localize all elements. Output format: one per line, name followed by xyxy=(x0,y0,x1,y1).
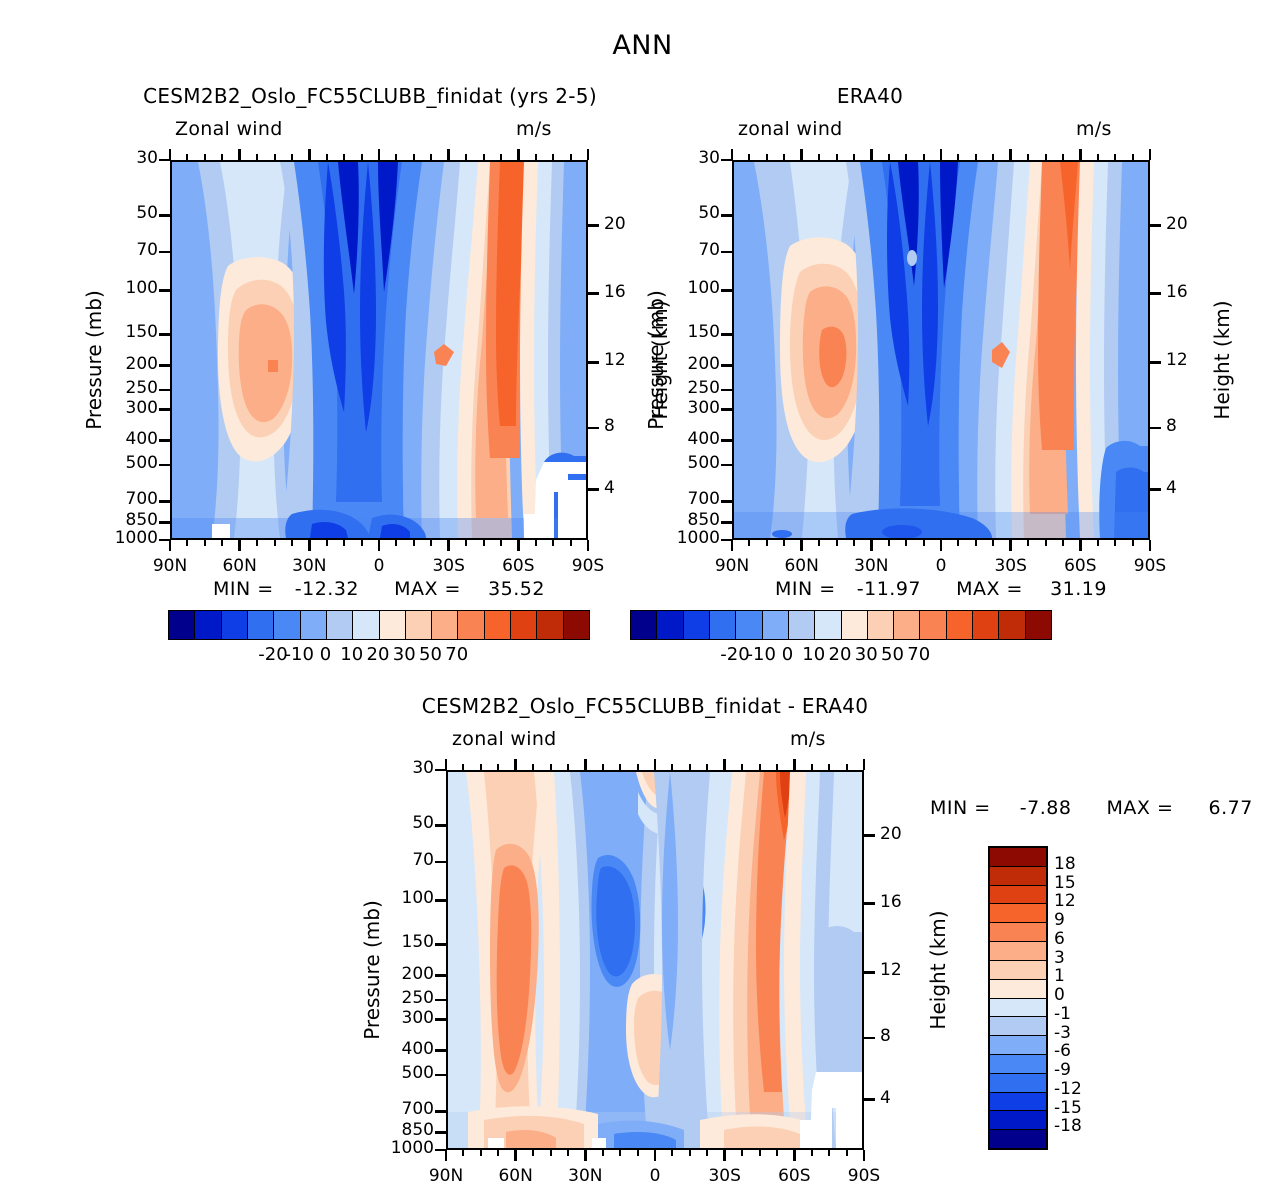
colorbar-cell xyxy=(990,999,1046,1018)
x-tick-major xyxy=(308,149,311,160)
x-tick-label: 60S xyxy=(478,556,558,576)
x-tick-minor xyxy=(1062,540,1064,546)
contour-field-obs xyxy=(734,162,1148,538)
colorbar-diff xyxy=(988,846,1048,1150)
height-tick xyxy=(588,427,599,430)
x-tick-minor xyxy=(957,154,959,160)
height-tick-label: 8 xyxy=(1166,416,1206,436)
pressure-tick xyxy=(159,289,170,292)
colorbar-cell xyxy=(406,611,432,639)
x-tick-minor xyxy=(532,1150,534,1156)
x-tick-minor xyxy=(1097,540,1099,546)
x-tick-minor xyxy=(326,540,328,546)
x-tick-major xyxy=(514,1150,517,1161)
min-label-obs: MIN = xyxy=(775,578,836,600)
height-tick xyxy=(1150,361,1161,364)
x-tick-minor xyxy=(923,540,925,546)
x-tick-major xyxy=(584,759,587,770)
x-tick-minor xyxy=(462,1150,464,1156)
max-label-diff: MAX = xyxy=(1107,797,1174,819)
panel-units-diff: m/s xyxy=(790,728,826,750)
pressure-tick-label: 200 xyxy=(636,354,720,374)
x-tick-minor xyxy=(570,154,572,160)
min-label-diff: MIN = xyxy=(930,797,991,819)
panel-field-label-model: Zonal wind xyxy=(175,118,283,140)
pressure-tick xyxy=(159,214,170,217)
min-value-model: -12.32 xyxy=(295,578,359,600)
x-tick-minor xyxy=(1114,154,1116,160)
colorbar-cell xyxy=(990,942,1046,961)
pressure-tick-label: 500 xyxy=(74,453,158,473)
pressure-tick xyxy=(435,974,446,977)
x-tick-minor xyxy=(811,1150,813,1156)
x-tick-minor xyxy=(465,154,467,160)
x-tick-label: 60S xyxy=(1040,556,1120,576)
x-tick-label: 60N xyxy=(476,1166,556,1186)
colorbar-cell xyxy=(327,611,353,639)
max-label-obs: MAX = xyxy=(956,578,1023,600)
x-tick-minor xyxy=(552,540,554,546)
colorbar-cell xyxy=(248,611,274,639)
pressure-tick-label: 300 xyxy=(74,398,158,418)
pressure-tick-label: 1000 xyxy=(636,528,720,548)
x-tick-minor xyxy=(759,1150,761,1156)
contour-field-diff xyxy=(448,772,862,1148)
height-tick-label: 8 xyxy=(880,1026,920,1046)
colorbar-cell xyxy=(990,1074,1046,1093)
pressure-tick xyxy=(435,899,446,902)
x-tick-major xyxy=(587,149,590,160)
x-tick-major xyxy=(587,540,590,551)
x-tick-minor xyxy=(1027,540,1029,546)
colorbar-cell xyxy=(631,611,657,639)
x-tick-major xyxy=(793,759,796,770)
x-tick-minor xyxy=(975,154,977,160)
height-tick-label: 4 xyxy=(880,1088,920,1108)
colorbar-cell xyxy=(736,611,762,639)
pressure-tick xyxy=(435,1110,446,1113)
pressure-tick xyxy=(721,464,732,467)
height-tick xyxy=(1150,427,1161,430)
height-tick-label: 20 xyxy=(880,824,920,844)
x-tick-label: 90S xyxy=(548,556,628,576)
x-tick-major xyxy=(238,540,241,551)
x-tick-minor xyxy=(480,1150,482,1156)
colorbar-tick-label: -9 xyxy=(1054,1060,1114,1080)
plot-area-diff xyxy=(446,770,864,1150)
x-tick-major xyxy=(238,149,241,160)
pressure-tick xyxy=(435,999,446,1002)
colorbar-cell xyxy=(990,1130,1046,1148)
pressure-tick xyxy=(159,464,170,467)
yaxis-title-diff: Pressure (mb) xyxy=(360,870,384,1070)
colorbar-cell xyxy=(511,611,537,639)
x-tick-major xyxy=(1009,540,1012,551)
x-tick-major xyxy=(517,540,520,551)
pressure-tick xyxy=(435,1018,446,1021)
colorbar-cell xyxy=(789,611,815,639)
x-tick-major xyxy=(1009,149,1012,160)
x-tick-major xyxy=(447,540,450,551)
colorbar-tick-label: 18 xyxy=(1054,854,1114,874)
x-tick-minor xyxy=(706,1150,708,1156)
x-tick-label: 30S xyxy=(685,1166,765,1186)
x-tick-major xyxy=(723,759,726,770)
x-tick-minor xyxy=(1062,154,1064,160)
x-tick-minor xyxy=(992,154,994,160)
x-tick-minor xyxy=(413,154,415,160)
colorbar-cell xyxy=(222,611,248,639)
x-tick-minor xyxy=(905,540,907,546)
x-tick-minor xyxy=(888,540,890,546)
pressure-tick xyxy=(721,364,732,367)
colorbar-cell xyxy=(999,611,1025,639)
pressure-tick-label: 50 xyxy=(636,203,720,223)
x-tick-minor xyxy=(567,1150,569,1156)
pressure-tick-label: 700 xyxy=(74,489,158,509)
x-tick-major xyxy=(584,1150,587,1161)
colorbar-cell xyxy=(920,611,946,639)
x-tick-minor xyxy=(361,540,363,546)
pressure-tick xyxy=(159,364,170,367)
pressure-tick-label: 30 xyxy=(350,758,434,778)
x-tick-minor xyxy=(535,154,537,160)
x-tick-major xyxy=(517,149,520,160)
panel-title-obs: ERA40 xyxy=(640,84,1100,108)
pressure-tick-label: 700 xyxy=(350,1099,434,1119)
x-tick-minor xyxy=(535,540,537,546)
x-tick-minor xyxy=(1132,154,1134,160)
pressure-tick-label: 100 xyxy=(74,278,158,298)
x-tick-minor xyxy=(204,154,206,160)
x-tick-label: 60S xyxy=(754,1166,834,1186)
x-tick-minor xyxy=(853,540,855,546)
height-tick xyxy=(864,1098,875,1101)
x-tick-minor xyxy=(1114,540,1116,546)
plot-area-model xyxy=(170,160,588,540)
x-tick-minor xyxy=(221,154,223,160)
x-tick-minor xyxy=(818,154,820,160)
x-tick-minor xyxy=(430,540,432,546)
x-tick-minor xyxy=(343,154,345,160)
height-tick xyxy=(1150,488,1161,491)
x-tick-major xyxy=(378,540,381,551)
colorbar-cell xyxy=(990,961,1046,980)
pressure-tick xyxy=(435,861,446,864)
x-tick-major xyxy=(940,149,943,160)
pressure-tick xyxy=(159,251,170,254)
x-tick-minor xyxy=(221,540,223,546)
pressure-tick-label: 400 xyxy=(74,429,158,449)
height-tick xyxy=(864,1037,875,1040)
x-tick-major xyxy=(378,149,381,160)
minmax-model: MIN = -12.32 MAX = 35.52 xyxy=(170,578,588,600)
height-tick xyxy=(864,834,875,837)
pressure-tick xyxy=(435,1149,446,1152)
height-tick xyxy=(588,292,599,295)
pressure-tick xyxy=(435,824,446,827)
x-tick-label: 30N xyxy=(545,1166,625,1186)
contour-field-model xyxy=(172,162,586,538)
pressure-tick xyxy=(721,289,732,292)
x-tick-minor xyxy=(497,1150,499,1156)
pressure-tick xyxy=(721,439,732,442)
pressure-tick xyxy=(159,500,170,503)
x-tick-minor xyxy=(975,540,977,546)
colorbar-cell xyxy=(868,611,894,639)
x-tick-minor xyxy=(186,540,188,546)
colorbar-tick-label: -15 xyxy=(1054,1098,1114,1118)
pressure-tick-label: 1000 xyxy=(350,1138,434,1158)
pressure-tick-label: 150 xyxy=(74,322,158,342)
x-tick-minor xyxy=(291,154,293,160)
colorbar-cell xyxy=(274,611,300,639)
x-tick-minor xyxy=(274,540,276,546)
colorbar-tick-label: -18 xyxy=(1054,1116,1114,1136)
pressure-tick xyxy=(721,389,732,392)
x-tick-major xyxy=(654,1150,657,1161)
colorbar-cell xyxy=(990,1036,1046,1055)
x-tick-minor xyxy=(905,154,907,160)
pressure-tick xyxy=(159,389,170,392)
x-tick-label: 30N xyxy=(831,556,911,576)
x-tick-label: 60N xyxy=(200,556,280,576)
x-tick-minor xyxy=(853,154,855,160)
x-tick-minor xyxy=(274,154,276,160)
x-tick-minor xyxy=(1045,154,1047,160)
x-tick-minor xyxy=(361,154,363,160)
colorbar-tick-label: -1 xyxy=(1054,1004,1114,1024)
x-tick-major xyxy=(1149,149,1152,160)
pressure-tick xyxy=(159,159,170,162)
y2axis-title-obs: Height (km) xyxy=(1210,260,1234,460)
x-tick-minor xyxy=(888,154,890,160)
colorbar-model xyxy=(168,610,590,640)
x-tick-minor xyxy=(957,540,959,546)
pressure-tick xyxy=(721,333,732,336)
pressure-tick xyxy=(721,521,732,524)
x-tick-major xyxy=(308,540,311,551)
x-tick-label: 90N xyxy=(130,556,210,576)
colorbar-cell xyxy=(1026,611,1051,639)
x-tick-major xyxy=(445,1150,448,1161)
x-tick-label: 0 xyxy=(901,556,981,576)
panel-units-model: m/s xyxy=(516,118,552,140)
colorbar-cell xyxy=(684,611,710,639)
x-tick-minor xyxy=(256,540,258,546)
x-tick-minor xyxy=(1027,154,1029,160)
height-tick-label: 12 xyxy=(1166,350,1206,370)
max-value-model: 35.52 xyxy=(488,578,545,600)
pressure-tick-label: 70 xyxy=(74,240,158,260)
x-tick-minor xyxy=(992,540,994,546)
height-tick xyxy=(588,224,599,227)
min-value-diff: -7.88 xyxy=(1020,797,1072,819)
x-tick-minor xyxy=(552,154,554,160)
x-tick-minor xyxy=(1045,540,1047,546)
pressure-tick-label: 400 xyxy=(636,429,720,449)
x-tick-minor xyxy=(483,540,485,546)
colorbar-tick-label: 1 xyxy=(1054,966,1114,986)
colorbar-cell xyxy=(485,611,511,639)
pressure-tick-label: 50 xyxy=(74,203,158,223)
minmax-diff: MIN = -7.88 MAX = 6.77 xyxy=(930,797,1253,819)
minmax-obs: MIN = -11.97 MAX = 31.19 xyxy=(732,578,1150,600)
x-tick-major xyxy=(1079,149,1082,160)
x-tick-label: 60N xyxy=(762,556,842,576)
x-tick-label: 0 xyxy=(339,556,419,576)
x-tick-minor xyxy=(836,540,838,546)
colorbar-tick-label: -3 xyxy=(1054,1023,1114,1043)
pressure-tick xyxy=(435,769,446,772)
x-tick-minor xyxy=(836,154,838,160)
pressure-tick-label: 100 xyxy=(636,278,720,298)
colorbar-cell xyxy=(990,923,1046,942)
x-tick-major xyxy=(1079,540,1082,551)
x-tick-minor xyxy=(741,1150,743,1156)
colorbar-cell xyxy=(815,611,841,639)
x-tick-minor xyxy=(395,154,397,160)
min-value-obs: -11.97 xyxy=(857,578,921,600)
colorbar-cell xyxy=(990,886,1046,905)
x-tick-minor xyxy=(766,540,768,546)
pressure-tick-label: 250 xyxy=(74,378,158,398)
colorbar-cell xyxy=(458,611,484,639)
x-tick-major xyxy=(654,759,657,770)
height-tick xyxy=(588,488,599,491)
panel-units-obs: m/s xyxy=(1076,118,1112,140)
colorbar-cell xyxy=(537,611,563,639)
pressure-tick xyxy=(159,539,170,542)
pressure-tick xyxy=(721,500,732,503)
min-label-model: MIN = xyxy=(213,578,274,600)
x-tick-minor xyxy=(395,540,397,546)
colorbar-cell xyxy=(842,611,868,639)
x-tick-major xyxy=(870,540,873,551)
panel-title-diff: CESM2B2_Oslo_FC55CLUBB_finidat - ERA40 xyxy=(340,694,950,718)
colorbar-tick-label: 70 xyxy=(879,644,959,665)
x-tick-major xyxy=(870,149,873,160)
pressure-tick xyxy=(721,251,732,254)
max-value-diff: 6.77 xyxy=(1209,797,1253,819)
x-tick-major xyxy=(863,759,866,770)
x-tick-minor xyxy=(766,154,768,160)
colorbar-cell xyxy=(301,611,327,639)
colorbar-tick-label: 6 xyxy=(1054,929,1114,949)
colorbar-cell xyxy=(947,611,973,639)
colorbar-cell xyxy=(657,611,683,639)
x-tick-label: 30S xyxy=(971,556,1051,576)
x-tick-minor xyxy=(256,154,258,160)
pressure-tick xyxy=(159,439,170,442)
x-tick-minor xyxy=(846,1150,848,1156)
panel-field-label-obs: zonal wind xyxy=(738,118,843,140)
x-tick-minor xyxy=(783,540,785,546)
x-tick-minor xyxy=(500,540,502,546)
colorbar-tick-label: -6 xyxy=(1054,1041,1114,1061)
x-tick-label: 90S xyxy=(1110,556,1190,576)
pressure-tick-label: 50 xyxy=(350,813,434,833)
pressure-tick-label: 30 xyxy=(636,148,720,168)
x-tick-label: 30N xyxy=(269,556,349,576)
y2axis-title-diff: Height (km) xyxy=(926,870,950,1070)
pressure-tick-label: 700 xyxy=(636,489,720,509)
colorbar-cell xyxy=(990,848,1046,867)
x-tick-minor xyxy=(637,1150,639,1156)
x-tick-major xyxy=(800,540,803,551)
colorbar-obs xyxy=(630,610,1052,640)
x-tick-minor xyxy=(465,540,467,546)
panel-title-model: CESM2B2_Oslo_FC55CLUBB_finidat (yrs 2-5) xyxy=(80,84,660,108)
colorbar-cell xyxy=(169,611,195,639)
height-tick-label: 12 xyxy=(880,960,920,980)
x-tick-minor xyxy=(619,1150,621,1156)
pressure-tick-label: 1000 xyxy=(74,528,158,548)
x-tick-label: 90N xyxy=(692,556,772,576)
pressure-tick xyxy=(435,1074,446,1077)
height-tick xyxy=(864,902,875,905)
x-tick-minor xyxy=(413,540,415,546)
pressure-tick-label: 500 xyxy=(636,453,720,473)
x-tick-major xyxy=(723,1150,726,1161)
x-tick-minor xyxy=(186,154,188,160)
x-tick-major xyxy=(940,540,943,551)
pressure-tick-label: 300 xyxy=(636,398,720,418)
pressure-tick xyxy=(159,333,170,336)
colorbar-cell xyxy=(990,867,1046,886)
pressure-tick-label: 30 xyxy=(74,148,158,168)
x-tick-minor xyxy=(1132,540,1134,546)
x-tick-minor xyxy=(430,154,432,160)
height-tick xyxy=(588,361,599,364)
colorbar-cell xyxy=(432,611,458,639)
x-tick-major xyxy=(1149,540,1152,551)
height-tick-label: 16 xyxy=(1166,282,1206,302)
x-tick-minor xyxy=(570,540,572,546)
x-tick-minor xyxy=(818,540,820,546)
height-tick xyxy=(1150,224,1161,227)
height-tick xyxy=(1150,292,1161,295)
x-tick-major xyxy=(731,540,734,551)
x-tick-major xyxy=(447,149,450,160)
colorbar-cell xyxy=(894,611,920,639)
figure-suptitle: ANN xyxy=(0,30,1285,61)
x-tick-label: 30S xyxy=(409,556,489,576)
pressure-tick xyxy=(721,214,732,217)
colorbar-cell xyxy=(763,611,789,639)
plot-area-obs xyxy=(732,160,1150,540)
x-tick-minor xyxy=(326,154,328,160)
colorbar-tick-label: 12 xyxy=(1054,891,1114,911)
x-tick-label: 90S xyxy=(824,1166,904,1186)
height-tick-label: 20 xyxy=(1166,214,1206,234)
pressure-tick xyxy=(159,408,170,411)
colorbar-cell xyxy=(195,611,221,639)
colorbar-cell xyxy=(990,1055,1046,1074)
colorbar-cell xyxy=(380,611,406,639)
pressure-tick xyxy=(721,539,732,542)
height-tick xyxy=(864,971,875,974)
x-tick-minor xyxy=(483,154,485,160)
x-tick-minor xyxy=(671,1150,673,1156)
x-tick-major xyxy=(514,759,517,770)
x-tick-minor xyxy=(1097,154,1099,160)
x-tick-minor xyxy=(828,1150,830,1156)
x-tick-minor xyxy=(783,154,785,160)
colorbar-tick-label: 70 xyxy=(417,644,497,665)
colorbar-cell xyxy=(990,1093,1046,1112)
x-tick-minor xyxy=(343,540,345,546)
